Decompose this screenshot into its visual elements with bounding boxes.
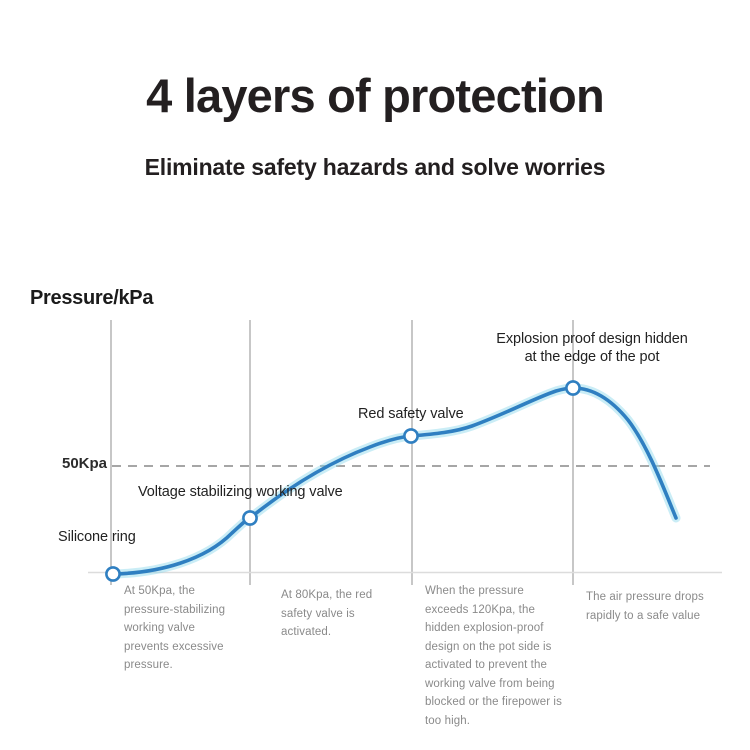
reference-value-label: 50Kpa xyxy=(62,455,107,472)
callout-explosion-proof-design: Explosion proof design hidden at the edg… xyxy=(472,330,712,366)
callout-explosion-line-2: at the edge of the pot xyxy=(472,348,712,366)
marker-voltage-stabilizing-valve[interactable] xyxy=(243,511,256,524)
stage-description-3: When the pressure exceeds 120Kpa, the hi… xyxy=(425,582,565,730)
marker-explosion-proof-design[interactable] xyxy=(566,381,579,394)
pressure-chart: Pressure/kPa xyxy=(0,0,750,750)
stage-description-2: At 80Kpa, the red safety valve is activa… xyxy=(281,586,399,642)
callout-red-safety-valve: Red safety valve xyxy=(358,406,464,422)
stage-description-4: The air pressure drops rapidly to a safe… xyxy=(586,588,726,625)
stage-description-1: At 50Kpa, the pressure-stabilizing worki… xyxy=(124,582,236,675)
callout-explosion-line-1: Explosion proof design hidden xyxy=(472,330,712,348)
callout-silicone-ring: Silicone ring xyxy=(58,529,136,545)
marker-red-safety-valve[interactable] xyxy=(404,429,417,442)
callout-voltage-stabilizing-valve: Voltage stabilizing working valve xyxy=(138,484,343,500)
stage-descriptions: At 50Kpa, the pressure-stabilizing worki… xyxy=(0,580,750,745)
infographic-root: 4 layers of protection Eliminate safety … xyxy=(0,0,750,750)
marker-silicone-ring[interactable] xyxy=(106,567,119,580)
